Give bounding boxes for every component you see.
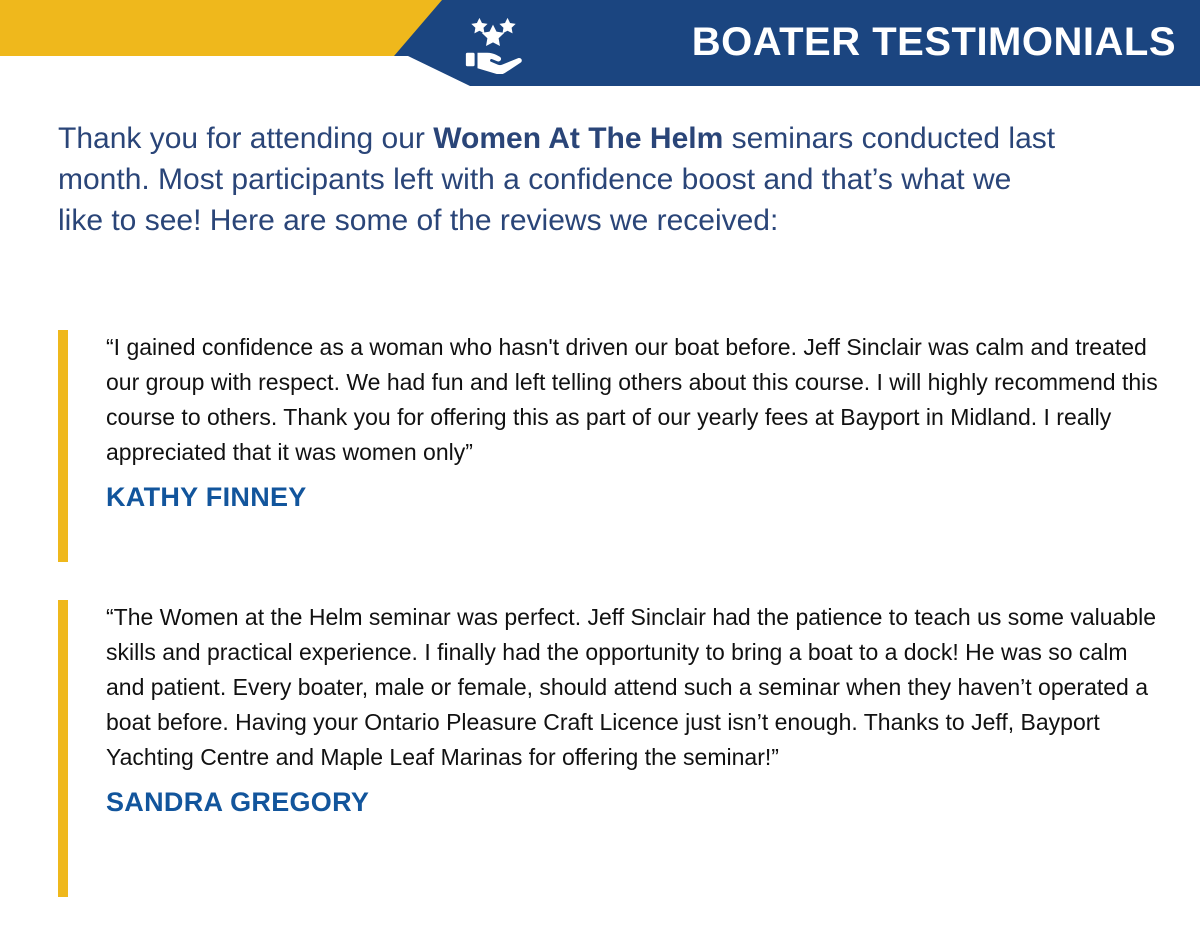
- testimonial-block: “I gained confidence as a woman who hasn…: [58, 330, 1168, 513]
- testimonials-page: BOATER TESTIMONIALS Thank you for attend…: [0, 0, 1200, 952]
- header-gold-band: [0, 0, 470, 56]
- testimonial-quote: “The Women at the Helm seminar was perfe…: [106, 600, 1164, 775]
- intro-paragraph: Thank you for attending our Women At The…: [58, 118, 1058, 241]
- testimonial-block: “The Women at the Helm seminar was perfe…: [58, 600, 1168, 818]
- intro-text-before: Thank you for attending our: [58, 122, 433, 155]
- testimonial-author: SANDRA GREGORY: [106, 787, 1168, 818]
- page-title: BOATER TESTIMONIALS: [692, 20, 1176, 65]
- page-header: BOATER TESTIMONIALS: [0, 0, 1200, 90]
- gold-accent-bar: [58, 600, 68, 897]
- gold-accent-bar: [58, 330, 68, 562]
- testimonial-quote: “I gained confidence as a woman who hasn…: [106, 330, 1164, 470]
- hand-holding-stars-icon: [462, 12, 524, 74]
- testimonial-author: KATHY FINNEY: [106, 482, 1168, 513]
- intro-seminar-name: Women At The Helm: [433, 122, 723, 155]
